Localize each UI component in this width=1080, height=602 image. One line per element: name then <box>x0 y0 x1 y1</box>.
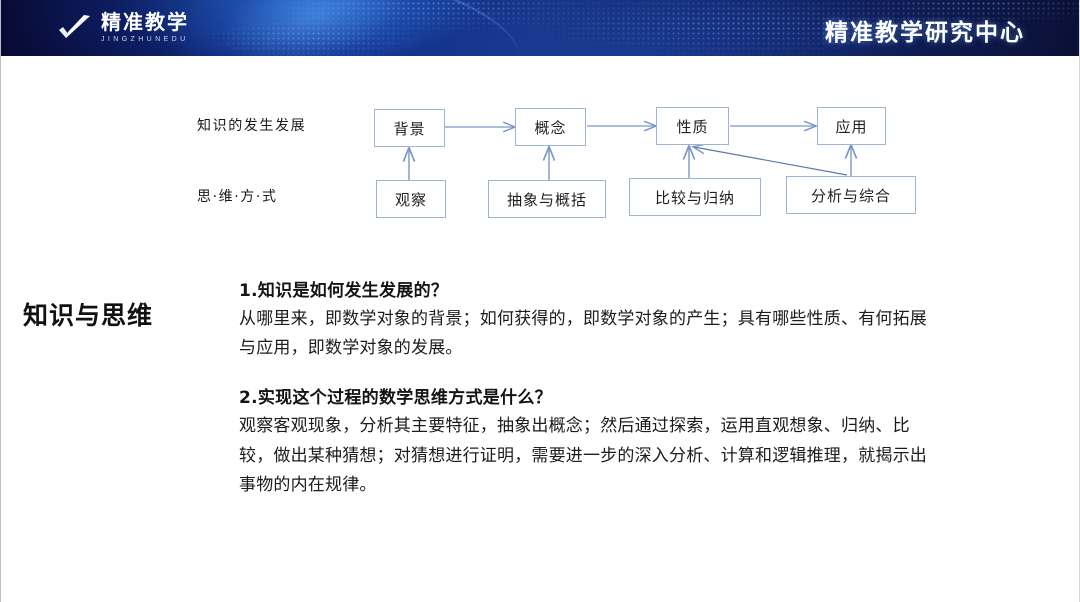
question-1: 1.知识是如何发生发展的？ <box>239 276 929 301</box>
diagram-box-analysis-synthesis[interactable]: 分析与综合 <box>786 176 916 214</box>
diagram-row-label-knowledge: 知识的发生发展 <box>197 115 306 135</box>
content-body: 1.知识是如何发生发展的？ 从哪里来，即数学对象的背景；如何获得的，即数学对象的… <box>239 276 929 500</box>
answer-1: 从哪里来，即数学对象的背景；如何获得的，即数学对象的产生；具有哪些性质、有何拓展… <box>239 305 929 363</box>
brand-name-en: JINGZHUNEDU <box>101 36 189 43</box>
question-2: 2.实现这个过程的数学思维方式是什么？ <box>239 383 929 408</box>
page-title: 知识与思维 <box>23 296 153 332</box>
header-title: 精准教学研究中心 <box>825 13 1025 47</box>
check-swoosh-icon <box>57 13 93 43</box>
brand-logo: 精准教学 JINGZHUNEDU <box>57 12 189 43</box>
diagram-box-observation[interactable]: 观察 <box>376 180 446 218</box>
header-banner: 精准教学 JINGZHUNEDU 精准教学研究中心 <box>1 0 1080 56</box>
answer-2: 观察客观现象，分析其主要特征，抽象出概念；然后通过探索，运用直观想象、归纳、比较… <box>239 412 929 500</box>
slide-canvas: 精准教学 JINGZHUNEDU 精准教学研究中心 知识的 <box>0 0 1080 602</box>
diagram-box-background[interactable]: 背景 <box>374 109 445 147</box>
brand-name-cn: 精准教学 <box>101 12 189 32</box>
diagram-box-abstraction-generalization[interactable]: 抽象与概括 <box>488 180 606 218</box>
brand-logo-text: 精准教学 JINGZHUNEDU <box>101 12 189 43</box>
diagram-box-comparison-induction[interactable]: 比较与归纳 <box>629 178 761 216</box>
knowledge-flow-diagram: 知识的发生发展 思·维·方·式 背景 概念 性质 应用 观察 抽象与概括 比较与… <box>1 56 1080 246</box>
diagram-row-label-thinking: 思·维·方·式 <box>197 186 278 206</box>
content-spacer <box>239 363 929 383</box>
diagram-box-concept[interactable]: 概念 <box>515 108 586 146</box>
diagram-box-property[interactable]: 性质 <box>656 107 729 145</box>
diagram-box-application[interactable]: 应用 <box>817 107 886 145</box>
